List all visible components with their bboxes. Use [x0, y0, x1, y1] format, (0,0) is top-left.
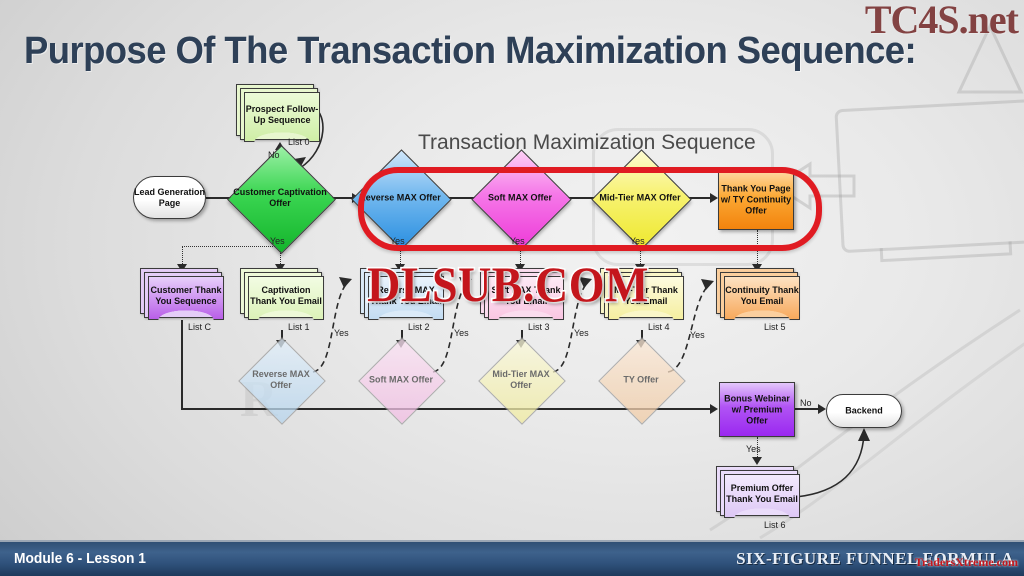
diamond-shape [358, 337, 446, 425]
edge-label-ghost-midtier-yes: Yes [574, 328, 589, 338]
node-soft-max-offer-ghost: Soft MAX Offer [361, 340, 441, 420]
list-tag-list4: List 4 [648, 322, 670, 332]
node-mid-tier-max-offer-ghost: Mid-Tier MAX Offer [481, 340, 561, 420]
node-label: Thank You Page w/ TY Continuity Offer [719, 184, 793, 217]
arrowhead [710, 404, 718, 414]
edge-label-midtier-yes: Yes [630, 236, 645, 246]
node-ty-offer-ghost: TY Offer [601, 340, 681, 420]
node-customer-thank-you-sequence[interactable]: Customer Thank You Sequence [140, 268, 224, 320]
footer-bar: Module 6 - Lesson 1 SIX-FIGURE FUNNEL FO… [0, 540, 1024, 576]
edge-label-bonus-yes: Yes [746, 444, 761, 454]
edge-thankyoupage-to-continuity [757, 230, 758, 268]
edge-label-reverse-yes: Yes [390, 236, 405, 246]
diamond-shape [351, 149, 451, 249]
list-tag-list3: List 3 [528, 322, 550, 332]
watermark-tradersxtreme: TradersXtreme.com [915, 555, 1018, 570]
list-tag-listC: List C [188, 322, 211, 332]
node-continuity-thank-you-email[interactable]: Continuity Thank You Email [716, 268, 800, 320]
node-lead-generation-page[interactable]: Lead Generation Page [133, 176, 206, 219]
diamond-shape [471, 149, 571, 249]
list-tag-list2: List 2 [408, 322, 430, 332]
page-title: Purpose Of The Transaction Maximization … [24, 30, 916, 73]
node-captivation-thank-you-email[interactable]: Captivation Thank You Email [240, 268, 324, 320]
diamond-shape [238, 337, 326, 425]
node-premium-offer-thank-you-email[interactable]: Premium Offer Thank You Email [716, 466, 800, 518]
diamond-shape [591, 149, 691, 249]
node-mid-tier-max-offer[interactable]: Mid-Tier MAX Offer [594, 152, 686, 244]
node-reverse-max-offer-ghost: Reverse MAX Offer [241, 340, 321, 420]
arrowhead [818, 404, 826, 414]
doc-sheet-front [244, 92, 320, 142]
node-prospect-follow-up-sequence[interactable]: Prospect Follow-Up Sequence [236, 84, 320, 142]
node-label: Lead Generation Page [134, 187, 205, 209]
doc-sheet-front [724, 276, 800, 320]
edge-label-ghost-soft-yes: Yes [454, 328, 469, 338]
list-tag-list1: List 1 [288, 322, 310, 332]
node-label: Backend [827, 406, 901, 417]
edge-label-soft-yes: Yes [510, 236, 525, 246]
edge-label-ghost-reverse-yes: Yes [334, 328, 349, 338]
node-label: Bonus Webinar w/ Premium Offer [720, 393, 794, 426]
arrowhead [710, 193, 718, 203]
list-tag-list0: List 0 [288, 137, 310, 147]
diamond-shape [478, 337, 566, 425]
diamond-shape [598, 337, 686, 425]
node-thank-you-page-continuity-offer[interactable]: Thank You Page w/ TY Continuity Offer [718, 170, 794, 230]
doc-sheet-front [148, 276, 224, 320]
edge-label-captivation-no: No [268, 150, 280, 160]
edge-label-captivation-yes: Yes [270, 236, 285, 246]
background-monitor-doodle [834, 99, 1024, 253]
edge-label-ghost-ty-yes: Yes [690, 330, 705, 340]
node-customer-captivation-offer[interactable]: Customer Captivation Offer [230, 148, 330, 248]
list-tag-list5: List 5 [764, 322, 786, 332]
arrowhead [752, 457, 762, 465]
node-bonus-webinar-premium-offer[interactable]: Bonus Webinar w/ Premium Offer [719, 382, 795, 437]
edge-label-bonus-no: No [800, 398, 812, 408]
node-reverse-max-offer[interactable]: Reverse MAX Offer [354, 152, 446, 244]
sequence-group-label: Transaction Maximization Sequence [418, 131, 756, 155]
watermark-dlsub: DLSUB.COM [358, 256, 658, 313]
edge-customer-sequence-down [181, 320, 183, 409]
list-tag-list6: List 6 [764, 520, 786, 530]
doc-sheet-front [248, 276, 324, 320]
slide-canvas: R TC4S.net Purpose Of The Transaction Ma… [0, 0, 1024, 576]
node-soft-max-offer[interactable]: Soft MAX Offer [474, 152, 566, 244]
footer-module-label: Module 6 - Lesson 1 [14, 550, 146, 567]
node-backend[interactable]: Backend [826, 394, 902, 428]
doc-sheet-front [724, 474, 800, 518]
